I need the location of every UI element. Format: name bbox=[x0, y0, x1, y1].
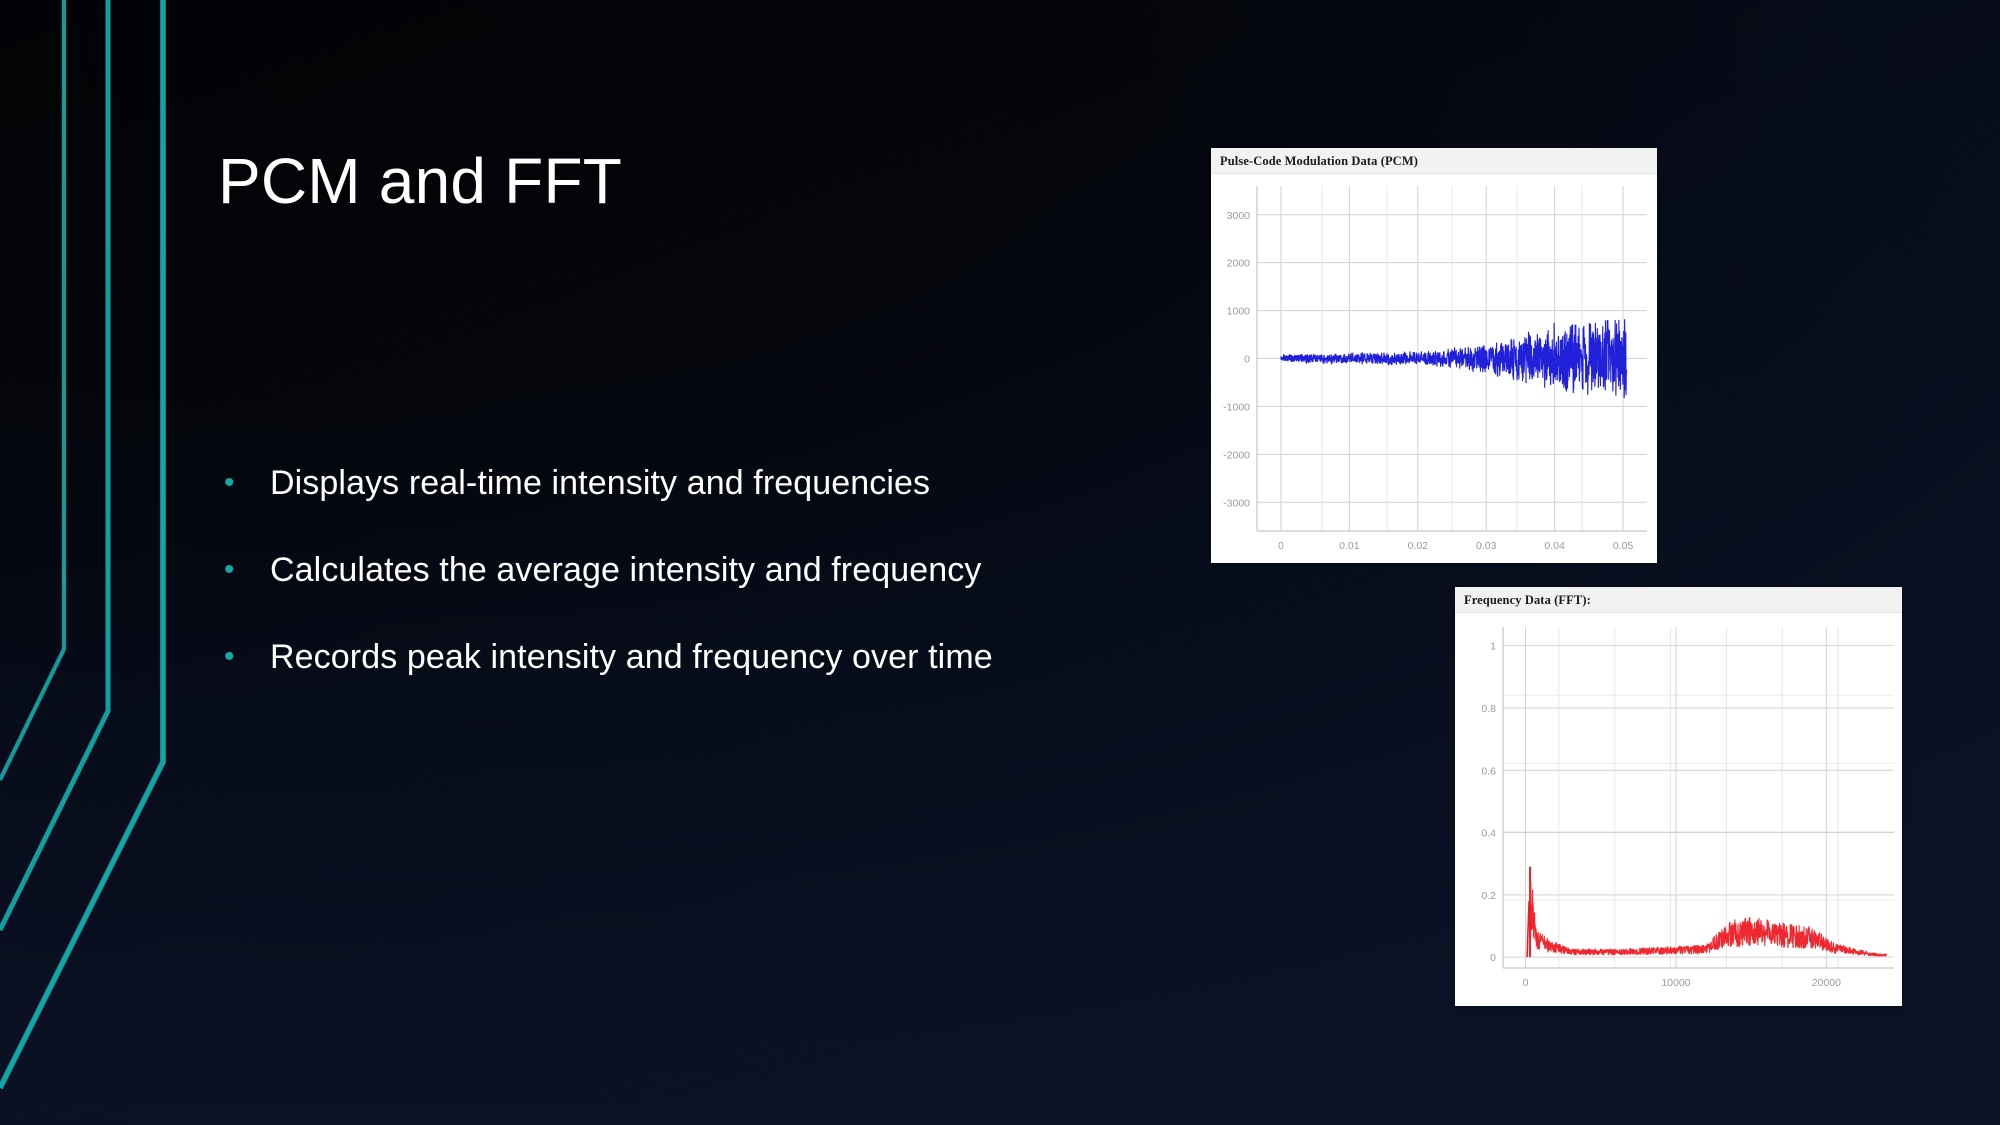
presentation-slide: PCM and FFT • Displays real-time intensi… bbox=[0, 0, 2000, 1125]
svg-text:0.01: 0.01 bbox=[1339, 540, 1360, 552]
bullet-list: • Displays real-time intensity and frequ… bbox=[214, 460, 1234, 721]
svg-text:0.02: 0.02 bbox=[1408, 540, 1429, 552]
pcm-chart-panel: Pulse-Code Modulation Data (PCM) -3000-2… bbox=[1211, 148, 1657, 563]
svg-text:-1000: -1000 bbox=[1223, 401, 1250, 413]
deco-line-1 bbox=[0, 0, 64, 780]
svg-text:1: 1 bbox=[1490, 641, 1496, 653]
pcm-plot-svg: -3000-2000-1000010002000300000.010.020.0… bbox=[1211, 174, 1657, 563]
svg-text:20000: 20000 bbox=[1812, 977, 1841, 989]
bullet-text: Records peak intensity and frequency ove… bbox=[270, 634, 1234, 680]
svg-text:0: 0 bbox=[1490, 952, 1496, 964]
page-title: PCM and FFT bbox=[218, 148, 622, 215]
bullet-marker-icon: • bbox=[214, 460, 270, 506]
svg-text:3000: 3000 bbox=[1227, 210, 1251, 222]
deco-line-2 bbox=[0, 0, 108, 930]
bullet-marker-icon: • bbox=[214, 634, 270, 680]
svg-text:2000: 2000 bbox=[1227, 258, 1251, 270]
svg-text:0.4: 0.4 bbox=[1481, 828, 1496, 840]
svg-text:0.2: 0.2 bbox=[1481, 890, 1496, 902]
bullet-marker-icon: • bbox=[214, 547, 270, 593]
svg-text:0.6: 0.6 bbox=[1481, 765, 1496, 777]
svg-text:10000: 10000 bbox=[1661, 977, 1690, 989]
svg-text:0.04: 0.04 bbox=[1544, 540, 1565, 552]
svg-text:0.05: 0.05 bbox=[1613, 540, 1634, 552]
list-item: • Displays real-time intensity and frequ… bbox=[214, 460, 1234, 506]
svg-text:-3000: -3000 bbox=[1223, 497, 1250, 509]
svg-text:0: 0 bbox=[1244, 354, 1250, 366]
fft-chart-title: Frequency Data (FFT): bbox=[1455, 587, 1902, 613]
list-item: • Calculates the average intensity and f… bbox=[214, 547, 1234, 593]
bullet-text: Calculates the average intensity and fre… bbox=[270, 547, 1234, 593]
teal-circuit-lines-decoration bbox=[0, 0, 230, 1125]
svg-text:0: 0 bbox=[1278, 540, 1284, 552]
bullet-text: Displays real-time intensity and frequen… bbox=[270, 460, 1234, 506]
svg-text:1000: 1000 bbox=[1227, 306, 1251, 318]
pcm-plot-area: -3000-2000-1000010002000300000.010.020.0… bbox=[1211, 174, 1657, 563]
deco-line-3 bbox=[0, 0, 163, 1088]
pcm-chart-title: Pulse-Code Modulation Data (PCM) bbox=[1211, 148, 1657, 174]
svg-text:0.03: 0.03 bbox=[1476, 540, 1497, 552]
fft-plot-svg: 00.20.40.60.8101000020000 bbox=[1455, 613, 1902, 1006]
svg-text:0.8: 0.8 bbox=[1481, 703, 1496, 715]
svg-text:-2000: -2000 bbox=[1223, 449, 1250, 461]
svg-text:0: 0 bbox=[1523, 977, 1529, 989]
fft-chart-panel: Frequency Data (FFT): 00.20.40.60.810100… bbox=[1455, 587, 1902, 1006]
list-item: • Records peak intensity and frequency o… bbox=[214, 634, 1234, 680]
fft-plot-area: 00.20.40.60.8101000020000 bbox=[1455, 613, 1902, 1006]
